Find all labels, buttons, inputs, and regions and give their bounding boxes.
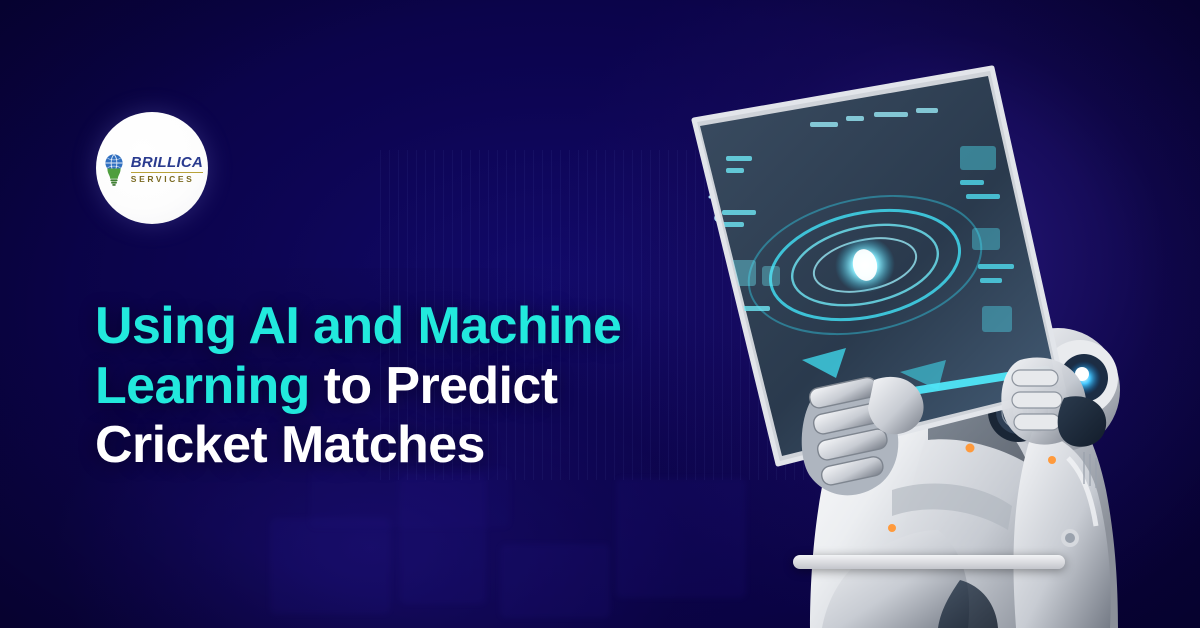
headline-accent-1: Using AI and Machine <box>95 297 621 355</box>
tablet-edge-bar <box>793 555 1065 569</box>
brand-logo[interactable]: BRILLICA SERVICES <box>96 112 208 224</box>
headline-line-3: Cricket Matches <box>95 416 755 476</box>
headline-line-1: Using AI and Machine <box>95 297 755 357</box>
logo-wordmark: BRILLICA <box>131 155 203 170</box>
page-title: Using AI and Machine Learning to Predict… <box>95 297 755 476</box>
globe-lightbulb-icon <box>101 152 127 186</box>
logo-divider <box>131 172 203 173</box>
blog-banner: BRILLICA SERVICES Using AI and Machine L… <box>0 0 1200 628</box>
humanoid-robot-figure <box>660 60 1200 628</box>
headline-accent-2: Learning <box>95 357 310 415</box>
headline-plain-2: to Predict <box>310 357 558 415</box>
headline-line-2: Learning to Predict <box>95 357 755 417</box>
logo-subtitle: SERVICES <box>131 175 195 184</box>
headline-plain-3: Cricket Matches <box>95 416 485 474</box>
